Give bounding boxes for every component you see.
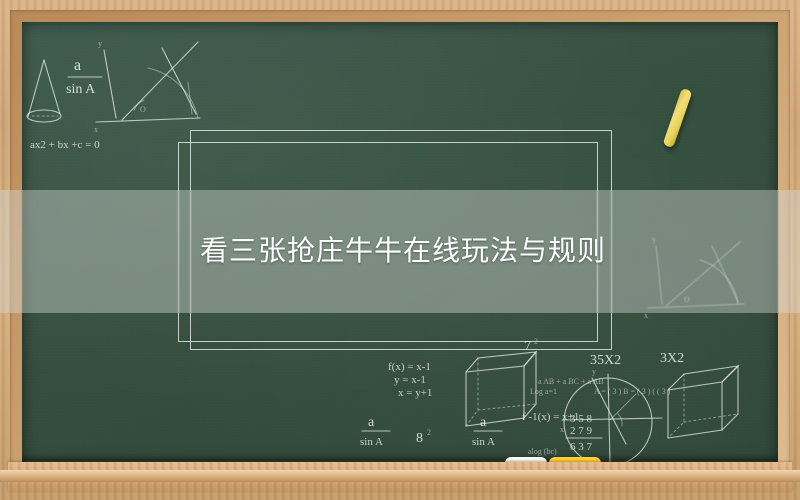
page-title: 看三张抢庄牛牛在线玩法与规则 [200, 231, 620, 271]
chalk-ledge-lip [0, 470, 800, 482]
chalkboard-banner: a sin A ax2 + bx +c = 0 y x O y [0, 0, 800, 500]
